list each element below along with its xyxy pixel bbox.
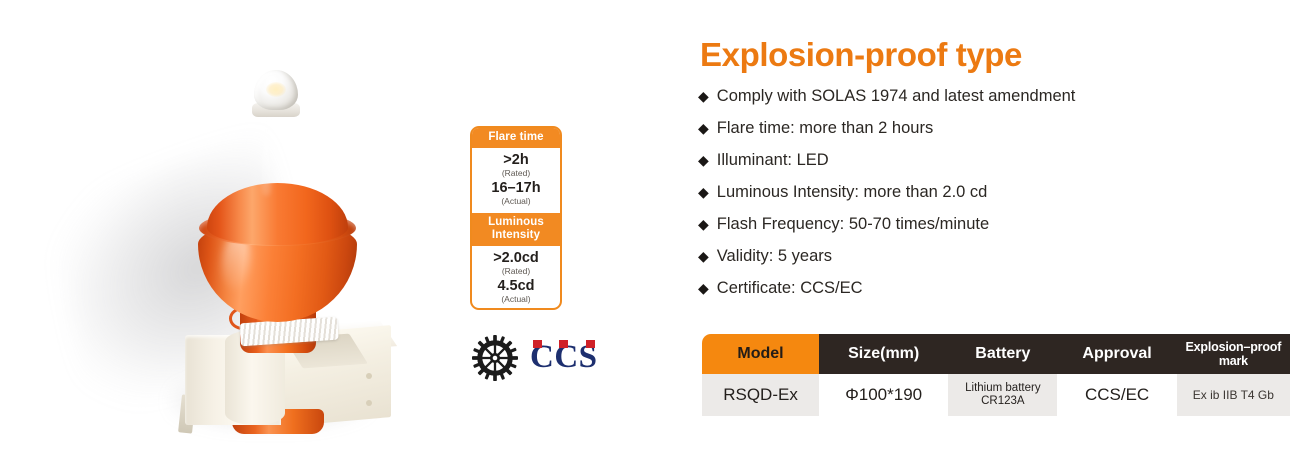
feature-text: Flare time: more than 2 hours xyxy=(717,118,933,138)
bracket-screw-hole xyxy=(366,400,372,406)
feature-text: Certificate: CCS/EC xyxy=(717,278,863,298)
specification-table: Model Size(mm) Battery Approval Explosio… xyxy=(702,334,1290,416)
table-body: RSQD-Ex Φ100*190 Lithium battery CR123A … xyxy=(702,374,1290,416)
feature-text: Flash Frequency: 50-70 times/minute xyxy=(717,214,989,234)
feature-text: Validity: 5 years xyxy=(717,246,832,266)
ccs-certification-logo: CCS xyxy=(472,334,607,382)
list-item: ◆ Comply with SOLAS 1974 and latest amen… xyxy=(698,86,1288,106)
spec-badge: Flare time >2h (Rated) 16–17h (Actual) L… xyxy=(470,126,562,310)
col-header-size: Size(mm) xyxy=(820,334,948,374)
cell-approval: CCS/EC xyxy=(1058,374,1176,416)
ccs-red-accent xyxy=(559,340,568,348)
diamond-bullet-icon: ◆ xyxy=(698,278,709,298)
page-title: Explosion-proof type xyxy=(700,36,1022,74)
list-item: ◆ Flash Frequency: 50-70 times/minute xyxy=(698,214,1288,234)
diamond-bullet-icon: ◆ xyxy=(698,86,709,106)
lifebuoy-light-illustration xyxy=(0,0,470,474)
lamp-neck-highlight xyxy=(262,116,271,196)
flare-time-actual-label: (Actual) xyxy=(474,196,558,206)
list-item: ◆ Certificate: CCS/EC xyxy=(698,278,1288,298)
ccs-red-accent xyxy=(586,340,595,348)
badge-header-flare-time: Flare time xyxy=(472,128,560,148)
cell-model: RSQD-Ex xyxy=(702,374,820,416)
list-item: ◆ Illuminant: LED xyxy=(698,150,1288,170)
col-header-explosion-proof-mark: Explosion–proof mark xyxy=(1177,334,1290,374)
col-header-model: Model xyxy=(702,334,820,374)
list-item: ◆ Luminous Intensity: more than 2.0 cd xyxy=(698,182,1288,202)
product-info-panel: Explosion-proof type ◆ Comply with SOLAS… xyxy=(698,0,1296,474)
diamond-bullet-icon: ◆ xyxy=(698,118,709,138)
feature-text: Luminous Intensity: more than 2.0 cd xyxy=(717,182,988,202)
bracket-screw-hole xyxy=(366,373,372,379)
flare-time-actual-value: 16–17h xyxy=(474,180,558,196)
badge-header-luminous-intensity: Luminous Intensity xyxy=(472,213,560,246)
table-row: RSQD-Ex Φ100*190 Lithium battery CR123A … xyxy=(702,374,1290,416)
feature-list: ◆ Comply with SOLAS 1974 and latest amen… xyxy=(698,86,1288,310)
product-photo xyxy=(0,0,470,474)
list-item: ◆ Flare time: more than 2 hours xyxy=(698,118,1288,138)
ships-wheel-icon xyxy=(472,335,518,381)
cell-explosion-proof-mark: Ex ib IIB T4 Gb xyxy=(1177,374,1290,416)
diamond-bullet-icon: ◆ xyxy=(698,214,709,234)
luminous-intensity-rated-value: >2.0cd xyxy=(474,250,558,266)
cell-battery-line1: Lithium battery xyxy=(948,382,1057,395)
cell-battery: Lithium battery CR123A xyxy=(948,374,1058,416)
diamond-bullet-icon: ◆ xyxy=(698,150,709,170)
diamond-bullet-icon: ◆ xyxy=(698,246,709,266)
feature-text: Illuminant: LED xyxy=(717,150,829,170)
feature-text: Comply with SOLAS 1974 and latest amendm… xyxy=(717,86,1076,106)
flare-time-rated-value: >2h xyxy=(474,152,558,168)
lamp-neck xyxy=(250,110,304,202)
col-header-approval: Approval xyxy=(1058,334,1176,374)
ccs-logo-text: CCS xyxy=(530,338,608,379)
ccs-wordmark: CCS xyxy=(530,338,608,374)
table-header: Model Size(mm) Battery Approval Explosio… xyxy=(702,334,1290,374)
luminous-intensity-rated-label: (Rated) xyxy=(474,266,558,276)
cell-battery-line2: CR123A xyxy=(948,395,1057,408)
badge-body-luminous-intensity: >2.0cd (Rated) 4.5cd (Actual) xyxy=(472,246,560,310)
list-item: ◆ Validity: 5 years xyxy=(698,246,1288,266)
col-header-battery: Battery xyxy=(948,334,1058,374)
luminous-intensity-actual-value: 4.5cd xyxy=(474,278,558,294)
cell-size: Φ100*190 xyxy=(820,374,948,416)
diamond-bullet-icon: ◆ xyxy=(698,182,709,202)
table-header-row: Model Size(mm) Battery Approval Explosio… xyxy=(702,334,1290,374)
badge-body-flare-time: >2h (Rated) 16–17h (Actual) xyxy=(472,148,560,213)
flare-time-rated-label: (Rated) xyxy=(474,168,558,178)
ccs-red-accent xyxy=(533,340,542,348)
luminous-intensity-actual-label: (Actual) xyxy=(474,294,558,304)
led-glow xyxy=(266,82,286,97)
